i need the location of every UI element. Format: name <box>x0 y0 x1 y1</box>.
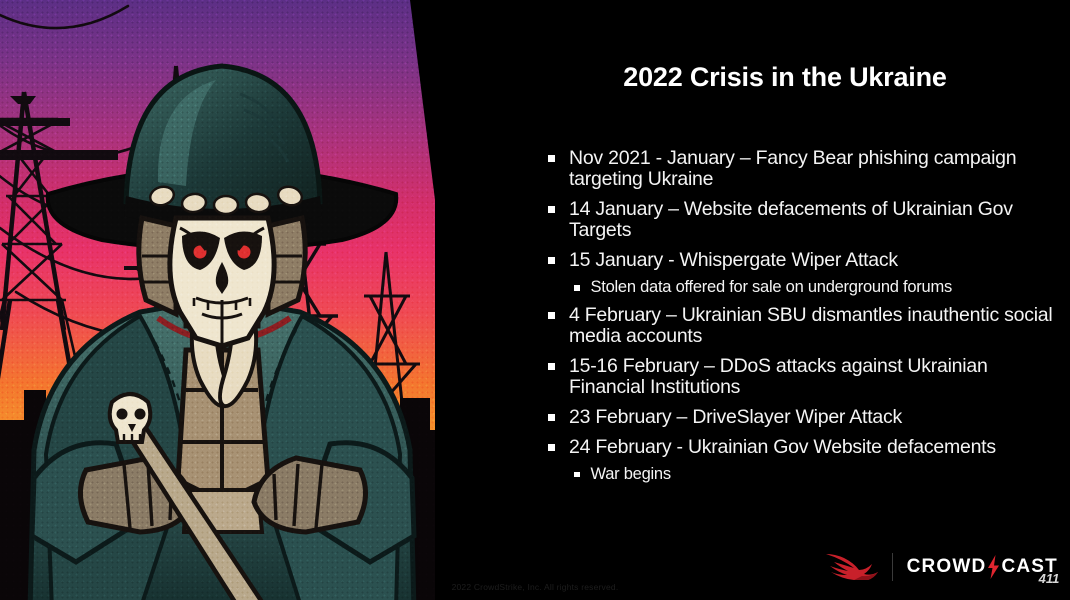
lightning-bolt-icon <box>987 555 1000 579</box>
list-item-label: Nov 2021 - January – Fancy Bear phishing… <box>569 148 1058 190</box>
bullet-marker-icon <box>548 257 555 264</box>
wordmark-crowd: CROWD <box>907 556 987 578</box>
list-item-label: 4 February – Ukrainian SBU dismantles in… <box>569 305 1058 347</box>
page-title: 2022 Crisis in the Ukraine <box>520 62 1050 93</box>
list-item-label: 24 February - Ukrainian Gov Website defa… <box>569 437 996 458</box>
bullet-list: Nov 2021 - January – Fancy Bear phishing… <box>538 148 1058 491</box>
presentation-slide: 2022 Crisis in the Ukraine Nov 2021 - Ja… <box>0 0 1070 600</box>
list-item: 14 January – Website defacements of Ukra… <box>548 199 1058 241</box>
411-badge-icon: 411 <box>1036 570 1062 586</box>
list-item: 24 February - Ukrainian Gov Website defa… <box>548 437 1058 458</box>
list-item: 15-16 February – DDoS attacks against Uk… <box>548 356 1058 398</box>
crowdcast-wordmark: CROWD CAST 411 <box>907 550 1058 584</box>
bullet-marker-icon <box>548 155 555 162</box>
crowdstrike-falcon-icon <box>824 550 880 584</box>
bullet-marker-icon <box>548 206 555 213</box>
list-item: 23 February – DriveSlayer Wiper Attack <box>548 407 1058 428</box>
list-item-label: 23 February – DriveSlayer Wiper Attack <box>569 407 902 428</box>
bullet-marker-icon <box>548 444 555 451</box>
sub-list-item: War begins <box>574 465 1058 484</box>
bullet-marker-icon <box>548 414 555 421</box>
sub-bullet-marker-icon <box>574 285 580 291</box>
list-item-label: 14 January – Website defacements of Ukra… <box>569 199 1058 241</box>
list-item-label: 15 January - Whispergate Wiper Attack <box>569 250 898 271</box>
slide-artwork-panel <box>0 0 500 600</box>
list-item: 4 February – Ukrainian SBU dismantles in… <box>548 305 1058 347</box>
badge-411-text: 411 <box>1038 571 1060 586</box>
bullet-marker-icon <box>548 312 555 319</box>
sub-list-item-label: War begins <box>591 465 671 484</box>
bullet-marker-icon <box>548 363 555 370</box>
sub-bullet-marker-icon <box>574 472 580 478</box>
brand-divider <box>892 553 893 581</box>
brand-lockup: CROWD CAST 411 <box>824 546 1058 588</box>
sub-list-item-label: Stolen data offered for sale on undergro… <box>591 278 952 297</box>
list-item: 15 January - Whispergate Wiper Attack <box>548 250 1058 271</box>
list-item-label: 15-16 February – DDoS attacks against Uk… <box>569 356 1058 398</box>
texture-overlay <box>0 0 500 600</box>
list-item: Nov 2021 - January – Fancy Bear phishing… <box>548 148 1058 190</box>
sub-list-item: Stolen data offered for sale on undergro… <box>574 278 1058 297</box>
slide-content-panel: 2022 Crisis in the Ukraine Nov 2021 - Ja… <box>520 0 1070 600</box>
